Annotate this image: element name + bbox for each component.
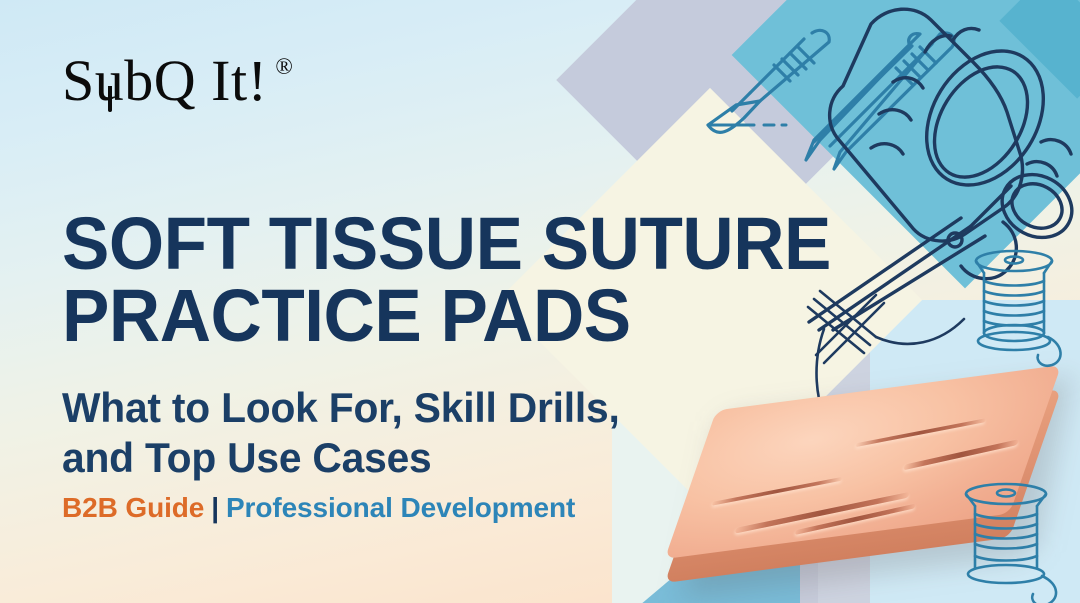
headline-line-1: SOFT TISSUE SUTURE [62, 208, 859, 281]
thread-spool-bottom-icon [958, 478, 1073, 603]
brand-logo[interactable]: SubQ It!® [62, 52, 293, 110]
text-content: SubQ It!® SOFT TISSUE SUTURE PRACTICE PA… [62, 0, 882, 603]
page-title: SOFT TISSUE SUTURE PRACTICE PADS [62, 208, 859, 353]
tagline-category: B2B Guide [62, 492, 204, 523]
logo-text-prefix: S [62, 48, 95, 113]
logo-text-suffix: bQ It! [124, 48, 267, 113]
incision [903, 439, 1019, 470]
thread-spool-top-icon [968, 245, 1073, 365]
tagline: B2B Guide|Professional Development [62, 494, 575, 522]
subhead-line-1: What to Look For, Skill Drills, [62, 383, 702, 433]
page-subtitle: What to Look For, Skill Drills, and Top … [62, 383, 702, 484]
registered-trademark-icon: ® [275, 54, 293, 79]
marketing-banner: SubQ It!® SOFT TISSUE SUTURE PRACTICE PA… [0, 0, 1080, 603]
subhead-line-2: and Top Use Cases [62, 433, 702, 483]
tagline-separator: | [211, 492, 219, 523]
logo-text-u: u [95, 52, 125, 110]
tagline-topic: Professional Development [226, 492, 575, 523]
headline-line-2: PRACTICE PADS [62, 280, 859, 353]
